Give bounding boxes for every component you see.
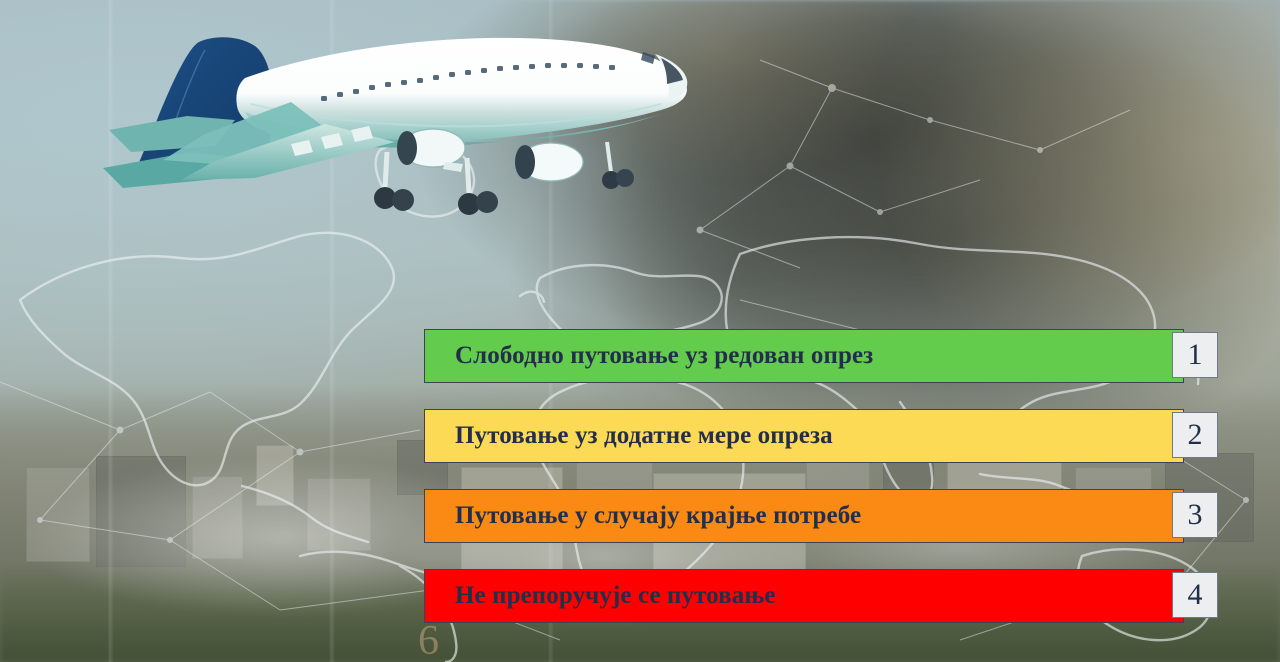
legend-row-level-4[interactable]: Не препоручује се путовање 4 (424, 569, 1184, 623)
level-4-number-badge: 4 (1172, 572, 1218, 618)
legend-row-level-2[interactable]: Путовање уз додатне мере опреза 2 (424, 409, 1184, 463)
legend-row-level-3[interactable]: Путовање у случају крајње потребе 3 (424, 489, 1184, 543)
legend-row-level-1[interactable]: Слободно путовање уз редован опрез 1 (424, 329, 1184, 383)
level-2-number-badge: 2 (1172, 412, 1218, 458)
level-3-bar[interactable]: Путовање у случају крајње потребе (424, 489, 1184, 543)
airplane-image (95, 12, 745, 227)
slide: 6 Слободно путовање уз редован опрез 1 П… (0, 0, 1280, 662)
level-2-bar[interactable]: Путовање уз додатне мере опреза (424, 409, 1184, 463)
level-1-bar[interactable]: Слободно путовање уз редован опрез (424, 329, 1184, 383)
level-1-number-badge: 1 (1172, 332, 1218, 378)
level-3-label: Путовање у случају крајње потребе (425, 502, 861, 530)
level-4-bar[interactable]: Не препоручује се путовање (424, 569, 1184, 623)
level-4-label: Не препоручује се путовање (425, 582, 776, 610)
level-2-label: Путовање уз додатне мере опреза (425, 422, 833, 450)
travel-advisory-legend: Слободно путовање уз редован опрез 1 Пут… (424, 329, 1184, 649)
level-1-label: Слободно путовање уз редован опрез (425, 342, 873, 370)
level-3-number-badge: 3 (1172, 492, 1218, 538)
